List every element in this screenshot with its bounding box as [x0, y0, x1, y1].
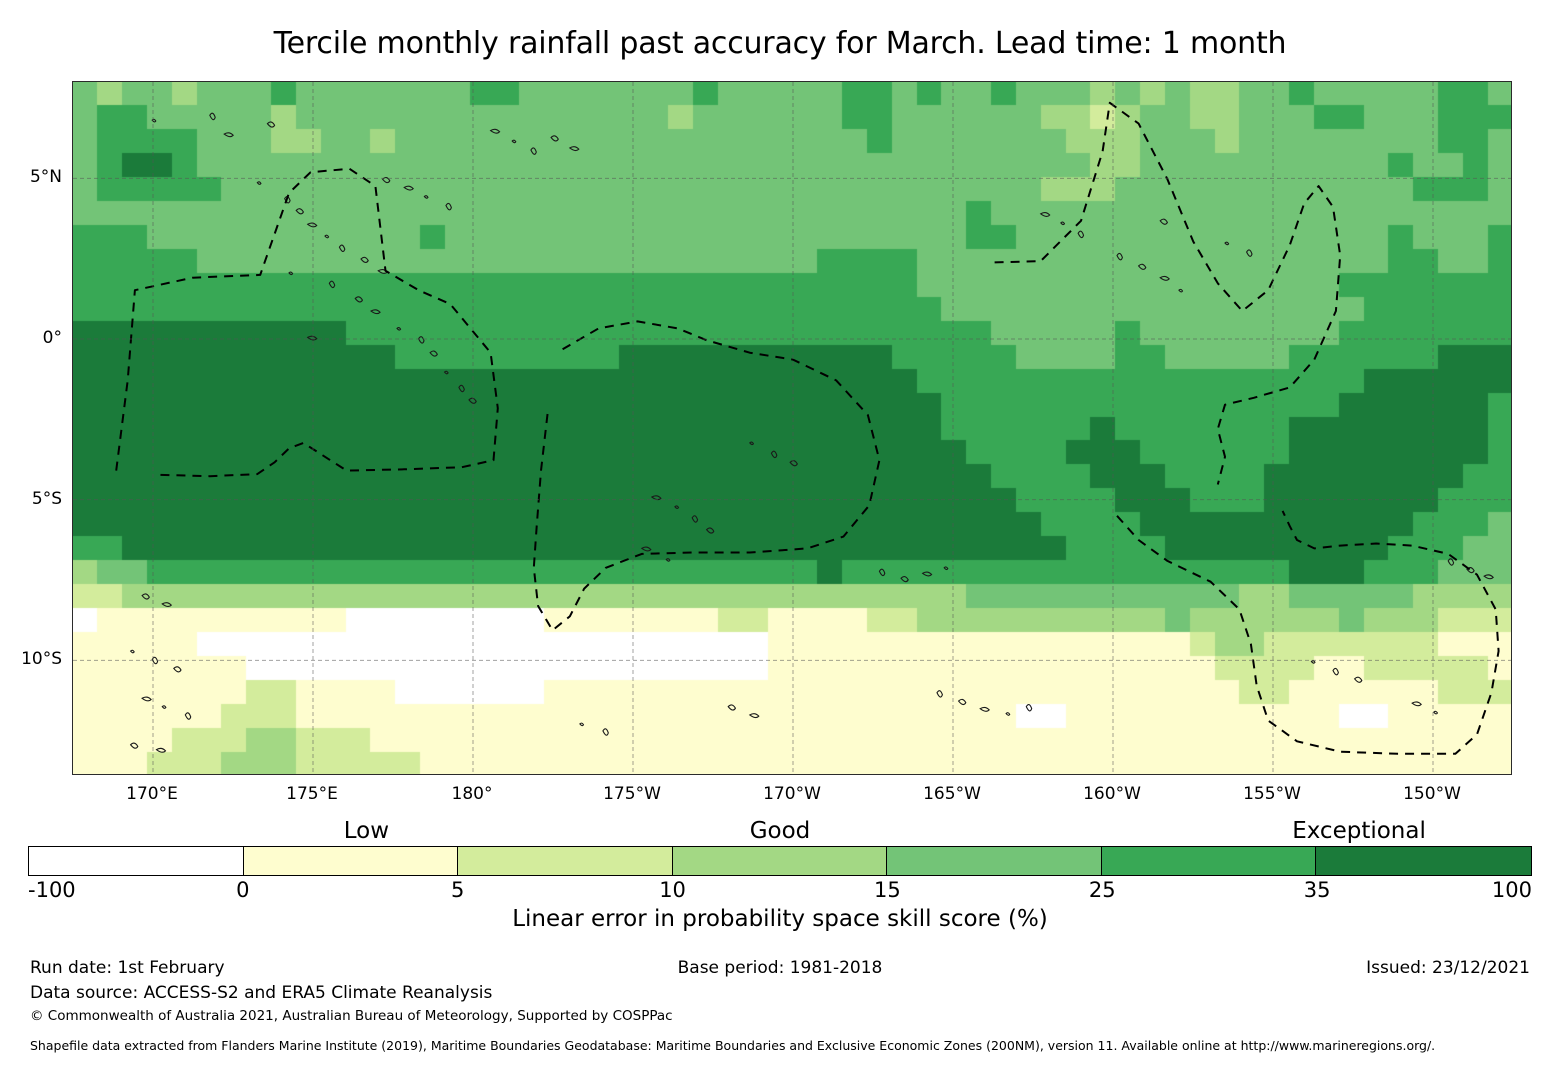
chart-page: Tercile monthly rainfall past accuracy f… — [0, 0, 1560, 1065]
colorbar — [28, 846, 1532, 876]
y-tick-label: 0° — [43, 328, 62, 348]
footer-row-2: Data source: ACCESS-S2 and ERA5 Climate … — [0, 983, 1560, 1008]
colorbar-axis-label: Linear error in probability space skill … — [0, 906, 1560, 932]
x-tick-label: 165°W — [923, 784, 981, 804]
x-tick-label: 175°E — [286, 784, 338, 804]
x-tick-label: 160°W — [1083, 784, 1141, 804]
y-tick-label: 5°S — [32, 489, 62, 509]
copyright-text: © Commonwealth of Australia 2021, Austra… — [30, 1008, 673, 1024]
colorbar-tick-label: 25 — [1089, 878, 1116, 902]
x-tick-label: 180° — [452, 784, 493, 804]
page-title: Tercile monthly rainfall past accuracy f… — [0, 26, 1560, 61]
footer-row-1: Run date: 1st February Base period: 1981… — [0, 958, 1560, 983]
colorbar-category-exceptional: Exceptional — [1292, 818, 1426, 844]
colorbar-tick-label: 5 — [451, 878, 464, 902]
colorbar-tick-label: 100 — [1492, 878, 1532, 902]
graticule-overlay — [73, 82, 1512, 775]
data-source-text: Data source: ACCESS-S2 and ERA5 Climate … — [30, 983, 492, 1003]
colorbar-tick-label: -100 — [28, 878, 76, 902]
colorbar-bands — [28, 846, 1532, 876]
x-tick-label: 150°W — [1403, 784, 1461, 804]
footer-row-3: © Commonwealth of Australia 2021, Austra… — [0, 1008, 1560, 1033]
y-tick-label: 5°N — [30, 167, 62, 187]
colorbar-band — [29, 847, 244, 875]
colorbar-band — [1316, 847, 1531, 875]
colorbar-band — [673, 847, 888, 875]
colorbar-tick-label: 15 — [874, 878, 901, 902]
x-tick-label: 175°W — [603, 784, 661, 804]
colorbar-band — [887, 847, 1102, 875]
colorbar-category-good: Good — [750, 818, 811, 844]
footer: Run date: 1st February Base period: 1981… — [0, 958, 1560, 1033]
shapefile-credit-text: Shapefile data extracted from Flanders M… — [30, 1038, 1435, 1053]
colorbar-tick-label: 10 — [659, 878, 686, 902]
x-tick-label: 170°W — [763, 784, 821, 804]
base-period-text: Base period: 1981-2018 — [678, 958, 883, 978]
y-tick-label: 10°S — [21, 649, 62, 669]
x-tick-label: 155°W — [1243, 784, 1301, 804]
colorbar-band — [244, 847, 459, 875]
run-date-text: Run date: 1st February — [30, 958, 225, 978]
x-tick-label: 170°E — [126, 784, 178, 804]
issued-text: Issued: 23/12/2021 — [1366, 958, 1530, 978]
map-plot-area — [72, 81, 1512, 775]
colorbar-category-low: Low — [344, 818, 389, 844]
colorbar-tick-label: 35 — [1304, 878, 1331, 902]
colorbar-band — [458, 847, 673, 875]
colorbar-band — [1102, 847, 1317, 875]
colorbar-tick-label: 0 — [236, 878, 249, 902]
